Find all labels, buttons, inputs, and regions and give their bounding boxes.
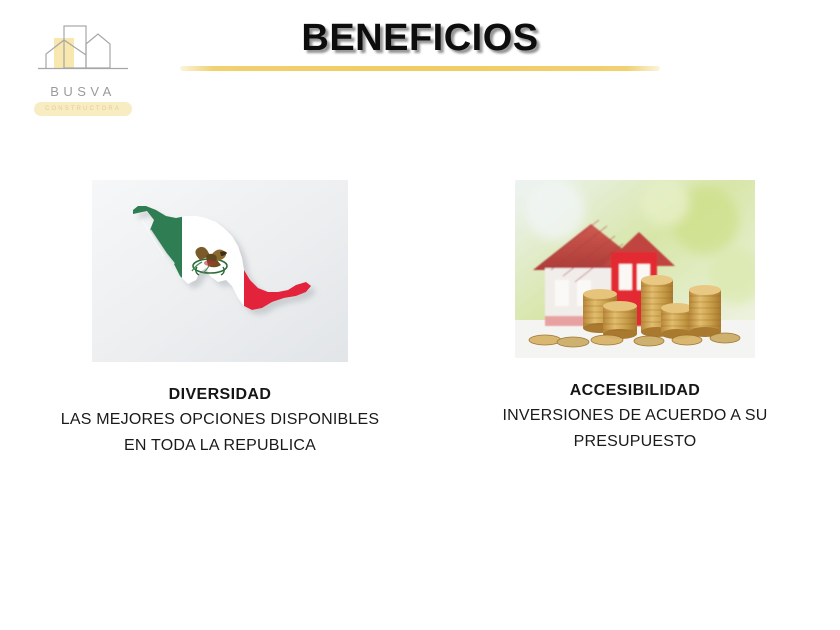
logo-subtitle: CONSTRUCTORA — [34, 103, 132, 115]
mexico-flag-map-image — [92, 180, 348, 362]
logo-wordmark: BUSVA — [28, 84, 138, 99]
benefit-card-accesibilidad: ACCESIBILIDAD INVERSIONES DE ACUERDO A S… — [450, 180, 820, 454]
title-underline-rule — [180, 66, 660, 71]
benefit-caption: DIVERSIDAD LAS MEJORES OPCIONES DISPONIB… — [20, 384, 420, 458]
benefit-card-diversidad: DIVERSIDAD LAS MEJORES OPCIONES DISPONIB… — [20, 180, 420, 458]
benefit-title: ACCESIBILIDAD — [450, 380, 820, 402]
benefit-description-line-2: PRESUPUESTO — [450, 430, 820, 454]
house-and-coins-image — [515, 180, 755, 358]
benefit-caption: ACCESIBILIDAD INVERSIONES DE ACUERDO A S… — [450, 380, 820, 454]
benefit-description-line-1: LAS MEJORES OPCIONES DISPONIBLES — [20, 408, 420, 432]
benefit-title: DIVERSIDAD — [20, 384, 420, 406]
page-title: BENEFICIOS — [0, 17, 840, 60]
benefit-description-line-1: INVERSIONES DE ACUERDO A SU — [450, 404, 820, 428]
benefit-description-line-2: EN TODA LA REPUBLICA — [20, 434, 420, 458]
